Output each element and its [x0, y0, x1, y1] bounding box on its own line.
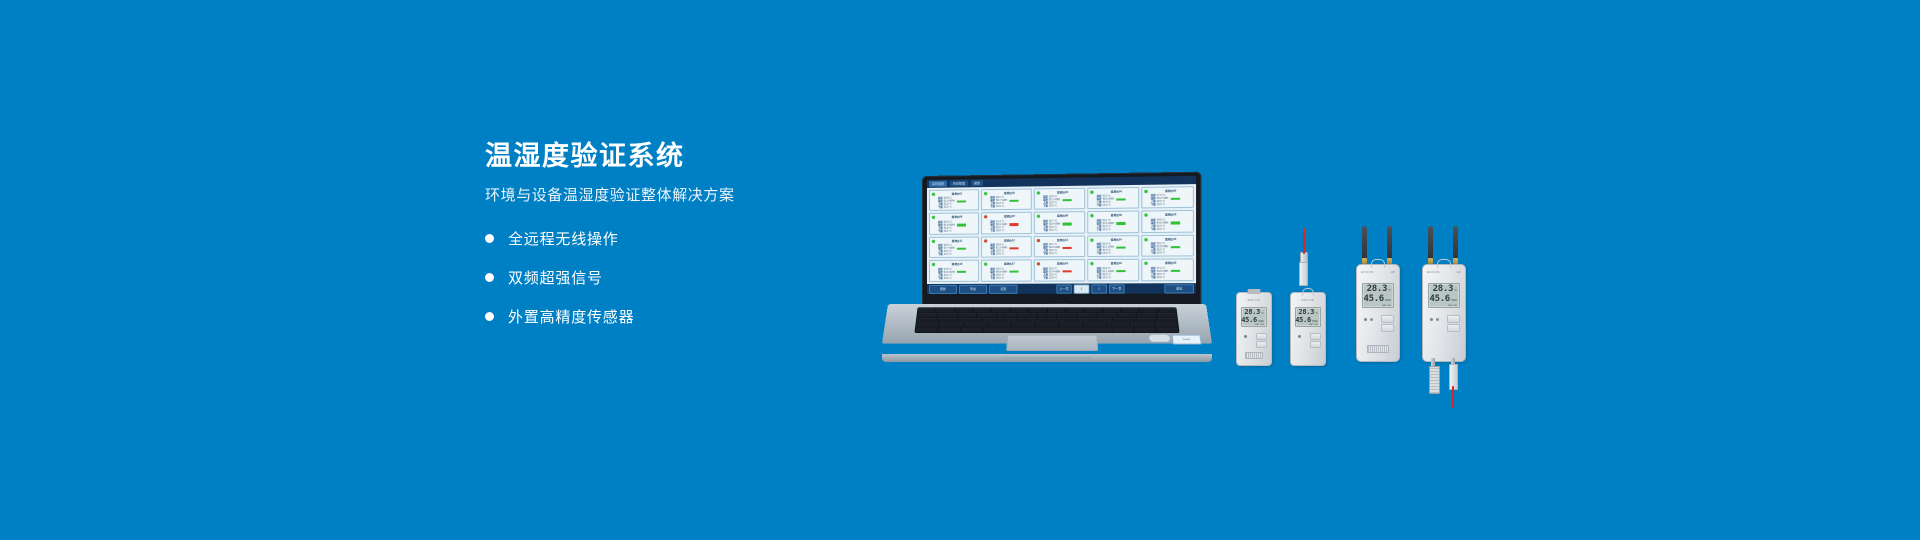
- sensor-card[interactable]: 监测点19温度25.6 ℃湿度51.1 %RH上限30.0 ℃下限15.0 ℃: [1087, 259, 1139, 281]
- sensor-wire: [1452, 386, 1454, 408]
- keyboard-key[interactable]: [1157, 328, 1179, 332]
- sensor-card-row-value: 15.0 ℃: [1049, 276, 1057, 279]
- sensor-card-row-value: 15.0 ℃: [1103, 276, 1111, 279]
- sensor-card-row-key: 下限: [1043, 252, 1048, 255]
- sensor-card-row: 下限15.0 ℃: [1151, 203, 1191, 207]
- status-badge: Intel: [1172, 335, 1202, 345]
- sensor-card-row: 下限15.0 ℃: [990, 253, 1029, 256]
- sensor-status-led-icon: [1144, 190, 1147, 193]
- keyboard-key[interactable]: [917, 318, 938, 322]
- keyboard-key[interactable]: [1012, 323, 1035, 327]
- bullet-dot-icon: [485, 273, 494, 282]
- list-item: 双频超强信号: [485, 267, 905, 288]
- vent-comb-icon: [1248, 289, 1261, 294]
- sensor-card-status-chip: [1170, 246, 1179, 249]
- keyboard-key[interactable]: [1026, 318, 1047, 322]
- sensor-card-row-key: 下限: [990, 229, 995, 232]
- sensor-card-row: 下限15.0 ℃: [1151, 227, 1191, 230]
- keyboard[interactable]: [914, 307, 1179, 333]
- export-button[interactable]: 导出: [959, 284, 987, 293]
- sensor-card-row-key: 下限: [1151, 204, 1156, 207]
- keyboard-key[interactable]: [997, 313, 1016, 317]
- device-lineup: ENCON 28.3 ℃ 45.6 %RH MAX MIN: [1236, 220, 1566, 390]
- sensor-status-led-icon: [984, 263, 987, 266]
- sensor-status-led-icon: [1037, 239, 1040, 242]
- lcd-temperature-line: 28.3 ℃: [1298, 308, 1318, 316]
- sensor-card-row: 下限15.0 ℃: [1151, 251, 1191, 254]
- sensor-card-title: 监测点05: [1151, 189, 1191, 193]
- sensor-card[interactable]: 监测点06温度25.5 ℃湿度51.8 %RH上限30.0 ℃下限15.0 ℃: [929, 213, 979, 235]
- sensor-card-row-key: 下限: [1151, 276, 1156, 279]
- keyboard-key[interactable]: [1047, 318, 1068, 322]
- sensor-card[interactable]: 监测点02温度26.1 ℃湿度50.7 %RH上限30.0 ℃下限15.0 ℃: [981, 188, 1032, 210]
- keyboard-key[interactable]: [1091, 318, 1112, 322]
- keyboard-key[interactable]: [960, 328, 982, 332]
- lcd-min-label: MIN: [1314, 324, 1318, 326]
- list-item: 全远程无线操作: [485, 228, 905, 249]
- pager-prev-button[interactable]: 上一页: [1056, 284, 1071, 293]
- sensor-card-row: 下限15.0 ℃: [1097, 228, 1137, 231]
- sensor-card-row-value: 15.0 ℃: [1103, 252, 1111, 255]
- sensor-card[interactable]: 监测点13温度32.1 ℃湿度59.3 %RH上限30.0 ℃下限15.0 ℃: [1034, 235, 1085, 257]
- sensor-card-status-chip: [957, 271, 966, 273]
- sensor-card-row-value: 15.0 ℃: [944, 253, 952, 256]
- lcd-display: 28.3 ℃ 45.6 %RH MAX MIN: [1428, 283, 1460, 308]
- keyboard-key[interactable]: [1134, 328, 1156, 332]
- keyboard-key[interactable]: [1010, 308, 1028, 312]
- sensor-card-row-key: 下限: [1097, 252, 1102, 255]
- sensor-card-status-chip: [957, 224, 966, 226]
- sensor-card[interactable]: 监测点05温度27.0 ℃湿度46.2 %RH上限30.0 ℃下限15.0 ℃: [1141, 186, 1194, 209]
- sensor-card-title: 监测点06: [938, 216, 976, 220]
- sensor-card-row: 下限15.0 ℃: [1097, 204, 1137, 208]
- sensor-card-status-chip: [1009, 199, 1018, 202]
- sensor-card-status-chip: [957, 247, 966, 249]
- sensor-card-row-value: 15.0 ℃: [944, 206, 952, 209]
- sensor-card-title: 监测点02: [990, 192, 1029, 196]
- keyboard-key-space[interactable]: [983, 328, 1111, 332]
- sensor-card-status-chip: [1116, 270, 1125, 272]
- sensor-card[interactable]: 监测点12温度30.8 ℃湿度61.2 %RH上限30.0 ℃下限15.0 ℃: [981, 236, 1032, 258]
- sensor-card-row: 下限15.0 ℃: [990, 276, 1029, 279]
- sensor-status-led-icon: [1037, 191, 1040, 194]
- sensor-card-row: 下限15.0 ℃: [990, 205, 1029, 208]
- sensor-status-led-icon: [1144, 238, 1147, 241]
- sensor-card-row-key: 下限: [1043, 205, 1048, 208]
- antenna-right-icon: [1387, 226, 1392, 260]
- sensor-card-title: 监测点03: [1043, 191, 1082, 195]
- refresh-button[interactable]: 更新: [929, 285, 957, 294]
- sensor-status-led-icon: [1037, 215, 1040, 218]
- lcd-min-label: MIN: [1453, 305, 1457, 307]
- keyboard-key[interactable]: [1155, 323, 1178, 327]
- keyboard-key[interactable]: [992, 308, 1010, 312]
- lcd-max-label: MAX: [1255, 324, 1259, 326]
- keyboard-key[interactable]: [916, 323, 939, 327]
- keyboard-key[interactable]: [1083, 323, 1106, 327]
- pager-next-button[interactable]: 下一页: [1109, 284, 1125, 293]
- keyboard-key[interactable]: [957, 313, 976, 317]
- tab-history[interactable]: 历史数据: [950, 180, 968, 186]
- sensor-card-row-value: 15.0 ℃: [1157, 203, 1165, 206]
- external-sensor-probe: [1449, 364, 1458, 390]
- lcd-temperature-unit: ℃: [1454, 289, 1457, 292]
- keyboard-key[interactable]: [1112, 328, 1134, 332]
- sensor-card-title: 监测点04: [1097, 190, 1137, 194]
- sensor-card-row-key: 下限: [1043, 229, 1048, 232]
- sensor-card-row-value: 15.0 ℃: [1103, 204, 1111, 207]
- sensor-card[interactable]: 监测点08温度26.7 ℃湿度49.4 %RH上限30.0 ℃下限15.0 ℃: [1034, 212, 1085, 234]
- sensor-card-status-chip: [1170, 270, 1179, 273]
- lcd-display: 28.3 ℃ 45.6 %RH MAX MIN: [1241, 307, 1267, 327]
- product-banner: 温湿度验证系统 环境与设备温湿度验证整体解决方案 全远程无线操作 双频超强信号 …: [0, 0, 1920, 540]
- sensor-card-row-key: 下限: [990, 206, 995, 209]
- lcd-temperature-unit: ℃: [1315, 312, 1318, 315]
- device-body: ENCON 28.3 ℃ 45.6 %RH MAX MIN: [1290, 292, 1326, 366]
- device-button-up[interactable]: [1310, 333, 1321, 340]
- lcd-display: 28.3 ℃ 45.6 %RH MAX MIN: [1295, 307, 1321, 327]
- keyboard-key[interactable]: [977, 313, 996, 317]
- device-data-logger-probe: ENCON 28.3 ℃ 45.6 %RH MAX MIN: [1290, 292, 1326, 366]
- sensor-card-status-chip: [1009, 270, 1018, 272]
- sensor-card-title: 监测点10: [1151, 213, 1191, 217]
- keyboard-key[interactable]: [1158, 308, 1176, 312]
- page-subtitle: 环境与设备温湿度验证整体解决方案: [485, 186, 905, 206]
- lcd-min-label: MIN: [1260, 324, 1264, 326]
- led-indicator-icon: [1244, 335, 1247, 338]
- sensor-card-row: 下限15.0 ℃: [938, 206, 976, 209]
- sensor-status-led-icon: [984, 192, 987, 195]
- lcd-temperature-line: 28.3 ℃: [1431, 284, 1457, 294]
- sensor-status-led-icon: [1090, 262, 1093, 265]
- sensor-card-status-chip: [1116, 246, 1125, 249]
- laptop-illustration: 实时监控 历史数据 报警 监测点01温度25.8 ℃湿度52.3 %RH上限30…: [882, 176, 1212, 362]
- sensor-status-led-icon: [932, 263, 935, 266]
- sensor-card[interactable]: 监测点15温度25.2 ℃湿度52.8 %RH上限30.0 ℃下限15.0 ℃: [1141, 234, 1194, 256]
- sensor-card-title: 监测点01: [938, 192, 976, 196]
- device-brand: ENCON: [1237, 298, 1271, 302]
- device-brand: ENCON: [1361, 270, 1374, 274]
- feature-label: 双频超强信号: [508, 267, 603, 288]
- sensor-card-title: 监测点13: [1043, 239, 1082, 243]
- keyboard-key[interactable]: [1017, 313, 1036, 317]
- antenna-right-icon: [1453, 226, 1458, 260]
- sensor-card[interactable]: 监测点07温度31.4 ℃湿度58.9 %RH上限30.0 ℃下限15.0 ℃: [981, 212, 1032, 234]
- keyboard-key[interactable]: [939, 318, 960, 322]
- keyboard-key[interactable]: [917, 313, 936, 317]
- sensor-card-row-value: 15.0 ℃: [944, 230, 952, 233]
- keyboard-key[interactable]: [1157, 313, 1176, 317]
- keyboard-key[interactable]: [964, 323, 987, 327]
- probe-wire: [1303, 228, 1305, 254]
- sensor-card-title: 监测点18: [1043, 262, 1082, 266]
- lcd-humidity-line: 45.6 %RH: [1244, 316, 1264, 324]
- keyboard-key[interactable]: [940, 323, 963, 327]
- lcd-max-label: MAX: [1382, 305, 1386, 307]
- led-indicator-icon: [1430, 318, 1433, 321]
- keyboard-row: [917, 318, 1177, 322]
- led-indicator-secondary-icon: [1436, 318, 1439, 321]
- feature-label: 外置高精度传感器: [508, 306, 634, 327]
- lcd-temperature-line: 28.3 ℃: [1244, 308, 1264, 316]
- keyboard-key[interactable]: [955, 308, 973, 312]
- laptop-front-edge: [882, 354, 1212, 362]
- sensor-card-row-value: 15.0 ℃: [996, 229, 1004, 232]
- sensor-card-title: 监测点09: [1097, 214, 1137, 218]
- sensor-card-row-key: 下限: [938, 253, 943, 256]
- sensor-card-title: 监测点20: [1151, 262, 1191, 266]
- keyboard-row: [916, 323, 1178, 327]
- keyboard-key[interactable]: [918, 308, 936, 312]
- sensor-card[interactable]: 监测点16温度24.8 ℃湿度53.6 %RH上限30.0 ℃下限15.0 ℃: [929, 260, 979, 282]
- sensor-card-row-key: 下限: [990, 276, 995, 279]
- sensor-card-row: 下限15.0 ℃: [938, 253, 976, 256]
- keyboard-key[interactable]: [938, 328, 960, 332]
- keyboard-key[interactable]: [1057, 313, 1076, 317]
- lcd-humidity-line: 45.6 %RH: [1365, 294, 1391, 304]
- sensor-card-row: 下限15.0 ℃: [1097, 276, 1137, 279]
- keyboard-key[interactable]: [1036, 323, 1059, 327]
- sensor-card-grid: 监测点01温度25.8 ℃湿度52.3 %RH上限30.0 ℃下限15.0 ℃监…: [927, 184, 1196, 284]
- metal-probe-icon: [1429, 366, 1440, 394]
- sensor-grille-icon: [1367, 345, 1389, 353]
- sensor-card-title: 监测点11: [938, 239, 976, 243]
- keyboard-key[interactable]: [1066, 308, 1084, 312]
- device-button-down[interactable]: [1310, 341, 1321, 348]
- sensor-card-row: 下限15.0 ℃: [1043, 276, 1082, 279]
- app-toolbar: 更新 导出 设置 上一页 1 2 下一页 退出: [927, 283, 1196, 294]
- laptop-screen: 实时监控 历史数据 报警 监测点01温度25.8 ℃湿度52.3 %RH上限30…: [927, 176, 1196, 294]
- deck-sticker: [1149, 335, 1170, 342]
- sensor-card-status-chip: [957, 200, 966, 203]
- sensor-card-row: 下限15.0 ℃: [938, 276, 976, 279]
- keyboard-key[interactable]: [988, 323, 1011, 327]
- sensor-card-status-chip: [1009, 247, 1018, 249]
- sensor-card-row-key: 下限: [1151, 228, 1156, 231]
- lcd-humidity-unit: %RH: [1312, 320, 1318, 323]
- keyboard-key[interactable]: [1113, 318, 1134, 322]
- sensor-card-row: 下限15.0 ℃: [1151, 276, 1191, 279]
- sensor-card-row-key: 下限: [938, 206, 943, 209]
- sensor-card[interactable]: 监测点04温度25.3 ℃湿度48.6 %RH上限30.0 ℃下限15.0 ℃: [1087, 187, 1139, 210]
- led-indicator-icon: [1298, 335, 1301, 338]
- sensor-card-status-chip: [1170, 197, 1179, 200]
- keyboard-key[interactable]: [1137, 313, 1156, 317]
- keyboard-key[interactable]: [1037, 313, 1056, 317]
- keyboard-key[interactable]: [1117, 313, 1136, 317]
- sensor-card-status-chip: [1062, 223, 1071, 226]
- keyboard-row: [918, 308, 1176, 312]
- sensor-card-row-key: 下限: [938, 230, 943, 233]
- sensor-card[interactable]: 监测点10温度24.6 ℃湿度54.5 %RH上限30.0 ℃下限15.0 ℃: [1141, 210, 1194, 233]
- sensor-card-row-value: 15.0 ℃: [1157, 276, 1165, 279]
- device-model: H8: [1457, 270, 1461, 274]
- sensor-card-title: 监测点15: [1151, 238, 1191, 242]
- device-data-logger-basic: ENCON 28.3 ℃ 45.6 %RH MAX MIN: [1236, 292, 1272, 366]
- settings-button[interactable]: 设置: [989, 284, 1017, 293]
- sensor-status-led-icon: [1144, 262, 1147, 265]
- sensor-card-row-value: 15.0 ℃: [1157, 228, 1165, 231]
- sensor-card-row-key: 下限: [990, 253, 995, 256]
- tab-realtime[interactable]: 实时监控: [929, 181, 947, 187]
- sensor-card-status-chip: [1116, 198, 1125, 201]
- page-title: 温湿度验证系统: [485, 140, 905, 172]
- device-button-up[interactable]: [1256, 333, 1267, 340]
- sensor-card-row-key: 下限: [1097, 276, 1102, 279]
- device-button-down[interactable]: [1447, 324, 1460, 332]
- keyboard-key[interactable]: [1069, 318, 1090, 322]
- keyboard-key[interactable]: [1097, 313, 1116, 317]
- sensor-card-title: 监测点17: [990, 263, 1029, 267]
- lcd-display: 28.3 ℃ 45.6 %RH MAX MIN: [1362, 283, 1394, 308]
- keyboard-key[interactable]: [1084, 308, 1102, 312]
- device-brand: ENCON: [1291, 298, 1325, 302]
- sensor-card-row-key: 下限: [1043, 276, 1048, 279]
- lcd-temperature-unit: ℃: [1261, 312, 1264, 315]
- keyboard-key[interactable]: [916, 328, 938, 332]
- device-body: ENCON H8 28.3 ℃ 45.6 %RH MAX MIN: [1422, 264, 1466, 362]
- sensor-card-row-key: 下限: [1097, 228, 1102, 231]
- lcd-max-label: MAX: [1309, 324, 1313, 326]
- device-button-down[interactable]: [1256, 341, 1267, 348]
- sensor-card-row-key: 下限: [1151, 252, 1156, 255]
- keyboard-key[interactable]: [1059, 323, 1082, 327]
- sensor-card[interactable]: 监测点18温度31.0 ℃湿度60.4 %RH上限30.0 ℃下限15.0 ℃: [1034, 259, 1085, 281]
- sensor-card-row-value: 15.0 ℃: [1103, 228, 1111, 231]
- sensor-status-led-icon: [932, 193, 935, 196]
- bullet-dot-icon: [485, 312, 494, 321]
- hanging-loop-icon: [1302, 288, 1314, 296]
- keyboard-row: [916, 328, 1179, 332]
- antenna-left-icon: [1362, 226, 1367, 260]
- lcd-footer: MAX MIN: [1365, 305, 1391, 307]
- lcd-temperature-unit: ℃: [1388, 289, 1391, 292]
- keyboard-key[interactable]: [1121, 308, 1139, 312]
- lcd-humidity-line: 45.6 %RH: [1431, 294, 1457, 304]
- hanging-loop-icon: [1437, 259, 1451, 268]
- sensor-card-title: 监测点08: [1043, 215, 1082, 219]
- sensor-card-row: 下限15.0 ℃: [938, 229, 976, 232]
- sensor-status-led-icon: [1090, 215, 1093, 218]
- keyboard-key[interactable]: [1004, 318, 1025, 322]
- sensor-card-title: 监测点14: [1097, 238, 1137, 242]
- sensor-card-row: 下限15.0 ℃: [1043, 228, 1082, 231]
- sensor-card[interactable]: 监测点03温度24.9 ℃湿度55.1 %RH上限30.0 ℃下限15.0 ℃: [1034, 188, 1085, 210]
- keyboard-key[interactable]: [1134, 318, 1155, 322]
- sensor-card-row-value: 15.0 ℃: [1049, 252, 1057, 255]
- sensor-card-title: 监测点19: [1097, 262, 1137, 266]
- sensor-card-row-value: 15.0 ℃: [996, 276, 1004, 279]
- device-body: ENCON H8 28.3 ℃ 45.6 %RH MAX MIN: [1356, 264, 1400, 362]
- sensor-card[interactable]: 监测点17温度26.0 ℃湿度48.9 %RH上限30.0 ℃下限15.0 ℃: [981, 260, 1032, 282]
- feature-label: 全远程无线操作: [508, 228, 619, 249]
- lcd-footer: MAX MIN: [1244, 324, 1264, 326]
- sensor-card-title: 监测点16: [938, 263, 976, 267]
- keyboard-key[interactable]: [973, 308, 991, 312]
- sensor-card-title: 监测点07: [990, 215, 1029, 219]
- keyboard-key[interactable]: [982, 318, 1003, 322]
- trackpad[interactable]: [1006, 335, 1098, 351]
- device-button-up[interactable]: [1447, 315, 1460, 323]
- sensor-card-status-chip: [1062, 199, 1071, 202]
- sensor-card[interactable]: 监测点01温度25.8 ℃湿度52.3 %RH上限30.0 ℃下限15.0 ℃: [929, 189, 979, 211]
- laptop-open-notch: [1002, 357, 1092, 360]
- bullet-dot-icon: [485, 234, 494, 243]
- device-button-down[interactable]: [1381, 324, 1394, 332]
- led-indicator-icon: [1364, 318, 1367, 321]
- sensor-card[interactable]: 监测点14温度26.4 ℃湿度50.1 %RH上限30.0 ℃下限15.0 ℃: [1087, 235, 1139, 257]
- banner-copy: 温湿度验证系统 环境与设备温湿度验证整体解决方案 全远程无线操作 双频超强信号 …: [485, 140, 905, 345]
- lcd-temperature-value: 28.3: [1298, 308, 1314, 316]
- sensor-card-status-chip: [1062, 246, 1071, 248]
- tab-alarm[interactable]: 报警: [971, 180, 983, 186]
- sensor-status-led-icon: [1090, 191, 1093, 194]
- pager-page-2[interactable]: 2: [1091, 284, 1107, 293]
- keyboard-key[interactable]: [1107, 323, 1130, 327]
- laptop-base: Intel: [882, 304, 1212, 362]
- lcd-humidity-unit: %RH: [1451, 299, 1457, 302]
- device-body: ENCON 28.3 ℃ 45.6 %RH MAX MIN: [1236, 292, 1272, 366]
- laptop-deck: Intel: [882, 304, 1212, 344]
- sensor-card-row-value: 15.0 ℃: [1049, 229, 1057, 232]
- sensor-card[interactable]: 监测点20温度27.2 ℃湿度45.8 %RH上限30.0 ℃下限15.0 ℃: [1141, 259, 1194, 281]
- sensor-card-row-value: 15.0 ℃: [1157, 252, 1165, 255]
- device-button-up[interactable]: [1381, 315, 1394, 323]
- lcd-humidity-value: 45.6: [1241, 316, 1257, 324]
- lcd-temperature-value: 28.3: [1367, 284, 1387, 294]
- sensor-card-row: 下限15.0 ℃: [1043, 204, 1082, 208]
- device-wireless-logger-dual-antenna: ENCON H8 28.3 ℃ 45.6 %RH MAX MIN: [1356, 262, 1400, 362]
- lcd-max-label: MAX: [1448, 305, 1452, 307]
- sensor-card-row: 下限15.0 ℃: [1043, 252, 1082, 255]
- keyboard-key[interactable]: [1077, 313, 1096, 317]
- lcd-temperature-value: 28.3: [1244, 308, 1260, 316]
- sensor-card-row-value: 15.0 ℃: [1049, 205, 1057, 208]
- antenna-left-icon: [1428, 226, 1433, 260]
- sensor-status-led-icon: [1037, 263, 1040, 266]
- keyboard-key[interactable]: [1131, 323, 1154, 327]
- keyboard-key[interactable]: [937, 313, 956, 317]
- feature-list: 全远程无线操作 双频超强信号 外置高精度传感器: [485, 228, 905, 327]
- keyboard-key[interactable]: [1140, 308, 1158, 312]
- device-brand: ENCON: [1427, 270, 1440, 274]
- keyboard-key[interactable]: [1048, 308, 1065, 312]
- hanging-loop-icon: [1371, 259, 1385, 268]
- sensor-status-led-icon: [1090, 238, 1093, 241]
- keyboard-key[interactable]: [936, 308, 954, 312]
- sensor-card-row-value: 15.0 ℃: [944, 277, 952, 280]
- keyboard-key[interactable]: [1156, 318, 1177, 322]
- sensor-card[interactable]: 监测点09温度25.1 ℃湿度53.0 %RH上限30.0 ℃下限15.0 ℃: [1087, 211, 1139, 233]
- keyboard-key[interactable]: [1103, 308, 1121, 312]
- sensor-card-status-chip: [1116, 222, 1125, 225]
- sensor-card-status-chip: [1009, 223, 1018, 226]
- sensor-card-row-key: 下限: [938, 277, 943, 280]
- sensor-card-row: 下限15.0 ℃: [990, 229, 1029, 232]
- sensor-card-row-key: 下限: [1097, 204, 1102, 207]
- sensor-card-row-value: 15.0 ℃: [996, 253, 1004, 256]
- keyboard-key[interactable]: [1029, 308, 1046, 312]
- keyboard-key[interactable]: [960, 318, 981, 322]
- lcd-humidity-unit: %RH: [1385, 299, 1391, 302]
- sensor-status-led-icon: [1144, 214, 1147, 217]
- pager-page-1[interactable]: 1: [1074, 284, 1089, 293]
- device-wireless-logger-external-sensor: ENCON H8 28.3 ℃ 45.6 %RH MAX MIN: [1422, 262, 1466, 362]
- exit-button[interactable]: 退出: [1164, 284, 1194, 293]
- lcd-humidity-value: 45.6: [1429, 294, 1449, 304]
- external-sensor-probe: [1299, 262, 1308, 286]
- sensor-card[interactable]: 监测点11温度25.9 ℃湿度47.7 %RH上限30.0 ℃下限15.0 ℃: [929, 236, 979, 258]
